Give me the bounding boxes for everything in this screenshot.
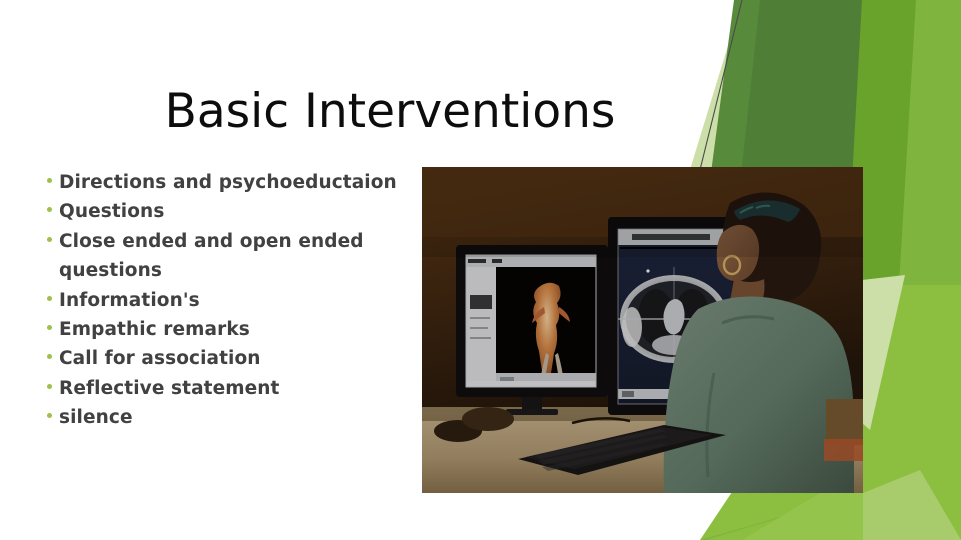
list-item: Directions and psychoeductaion xyxy=(46,168,398,197)
bullet-dot-icon xyxy=(47,296,52,301)
list-item: Information's xyxy=(46,286,398,315)
list-item: silence xyxy=(46,403,398,432)
bullet-dot-icon xyxy=(47,413,52,418)
bullet-dot-icon xyxy=(47,237,52,242)
list-item: Questions xyxy=(46,197,398,226)
bullet-dot-icon xyxy=(47,384,52,389)
list-item-label: silence xyxy=(59,407,133,428)
deco-shape-lower-wedge-2 xyxy=(706,493,863,540)
list-item-label: Questions xyxy=(59,201,164,222)
list-item-label: Close ended and open ended questions xyxy=(59,231,364,281)
list-item-label: Directions and psychoeductaion xyxy=(59,172,397,193)
deco-shape-lower-wedge-3 xyxy=(742,493,863,540)
deco-shape-yellowgreen-top xyxy=(888,0,961,540)
bullet-dot-icon xyxy=(47,207,52,212)
bullet-list: Directions and psychoeductaion Questions… xyxy=(46,168,398,433)
list-item-label: Reflective statement xyxy=(59,378,280,399)
bullet-dot-icon xyxy=(47,325,52,330)
list-item: Close ended and open ended questions xyxy=(46,227,398,286)
list-item: Empathic remarks xyxy=(46,315,398,344)
bullet-dot-icon xyxy=(47,354,52,359)
deco-shape-lower-left-wedge xyxy=(700,493,863,540)
slide-image xyxy=(422,167,863,493)
bullet-dot-icon xyxy=(47,178,52,183)
list-item: Call for association xyxy=(46,344,398,373)
page-title: Basic Interventions xyxy=(60,86,720,138)
list-item-label: Information's xyxy=(59,290,200,311)
presentation-slide: Basic Interventions Directions and psych… xyxy=(0,0,961,540)
list-item: Reflective statement xyxy=(46,374,398,403)
radiology-workstation-illustration xyxy=(422,167,863,493)
list-item-label: Empathic remarks xyxy=(59,319,250,340)
deco-shape-lower-pale-wedge xyxy=(863,470,961,540)
list-item-label: Call for association xyxy=(59,348,261,369)
